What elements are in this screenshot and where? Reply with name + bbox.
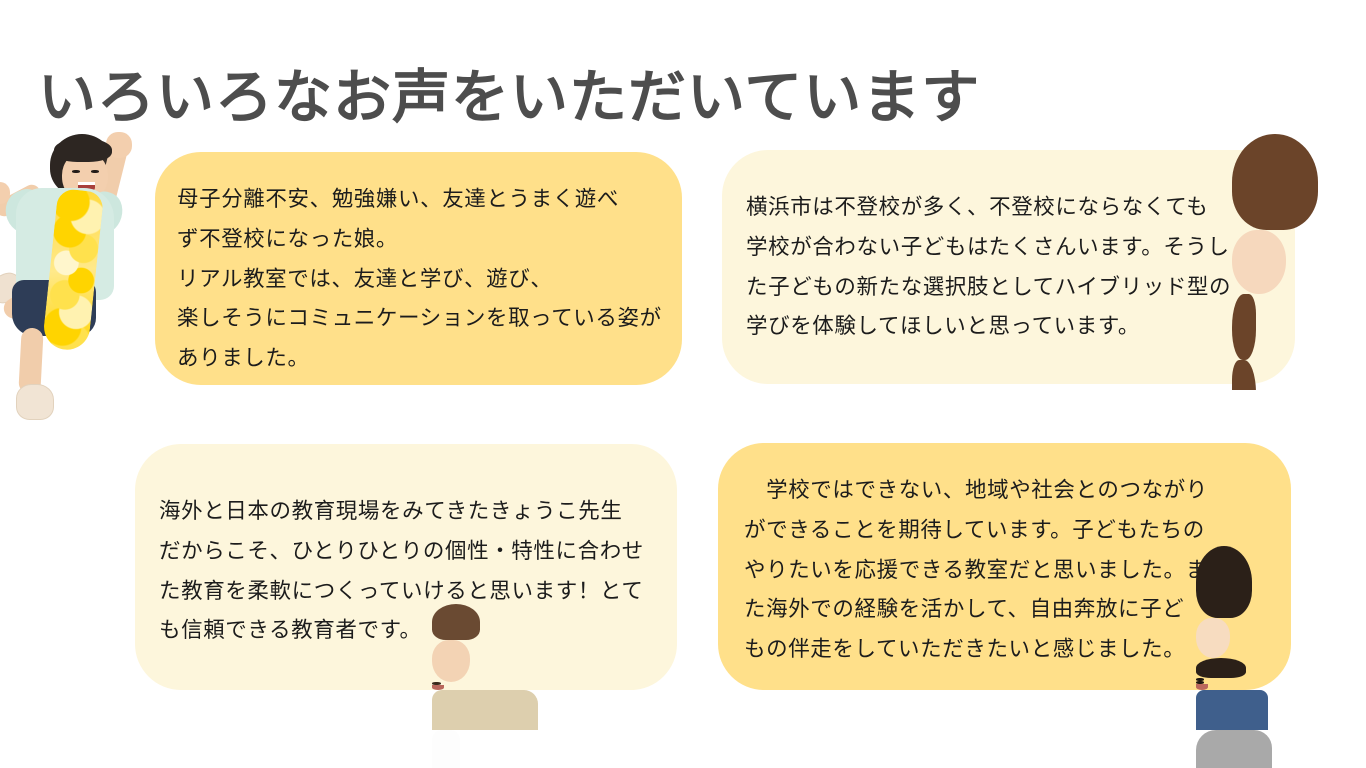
photo-family-of-three [432,604,684,768]
woman-face [1232,230,1286,294]
girl-bangs [54,138,112,162]
young-woman-gray-sweater [1196,730,1272,768]
father-tshirt [432,730,460,768]
photo-girl-with-lei [0,132,160,420]
page-title: いろいろなお声をいただいています [38,67,980,128]
woman-hair-back [1232,134,1318,230]
testimonial-text-4: 学校ではできない、地域や社会とのつながり ができることを期待しています。子どもた… [744,471,1274,670]
young-woman-face [1196,618,1230,658]
woman-hair-right [1232,360,1256,390]
father-hair [432,604,480,640]
young-woman-hair [1196,546,1252,618]
testimonial-text-1: 母子分離不安、勉強嫌い、友達とうまく遊べ ず不登校になった娘。 リアル教室では、… [177,180,667,379]
young-woman-bangs [1196,658,1246,678]
girl-left-shoe [16,384,54,420]
testimonial-text-2: 横浜市は不登校が多く、不登校にならなくても 学校が合わない子どもはたくさんいます… [746,188,1266,347]
testimonial-card-1: 母子分離不安、勉強嫌い、友達とうまく遊べ ず不登校になった娘。 リアル教室では、… [155,152,682,385]
father-face [432,640,470,682]
girl-right-eye [91,170,99,173]
testimonial-card-2: 横浜市は不登校が多く、不登校にならなくても 学校が合わない子どもはたくさんいます… [722,150,1295,384]
woman-hair-left [1232,294,1256,360]
young-woman-jeans [1196,690,1268,730]
photo-young-couple [1196,546,1366,768]
girl-left-eye [72,170,80,173]
father-pants [432,690,538,730]
photo-smiling-woman [1232,134,1366,390]
